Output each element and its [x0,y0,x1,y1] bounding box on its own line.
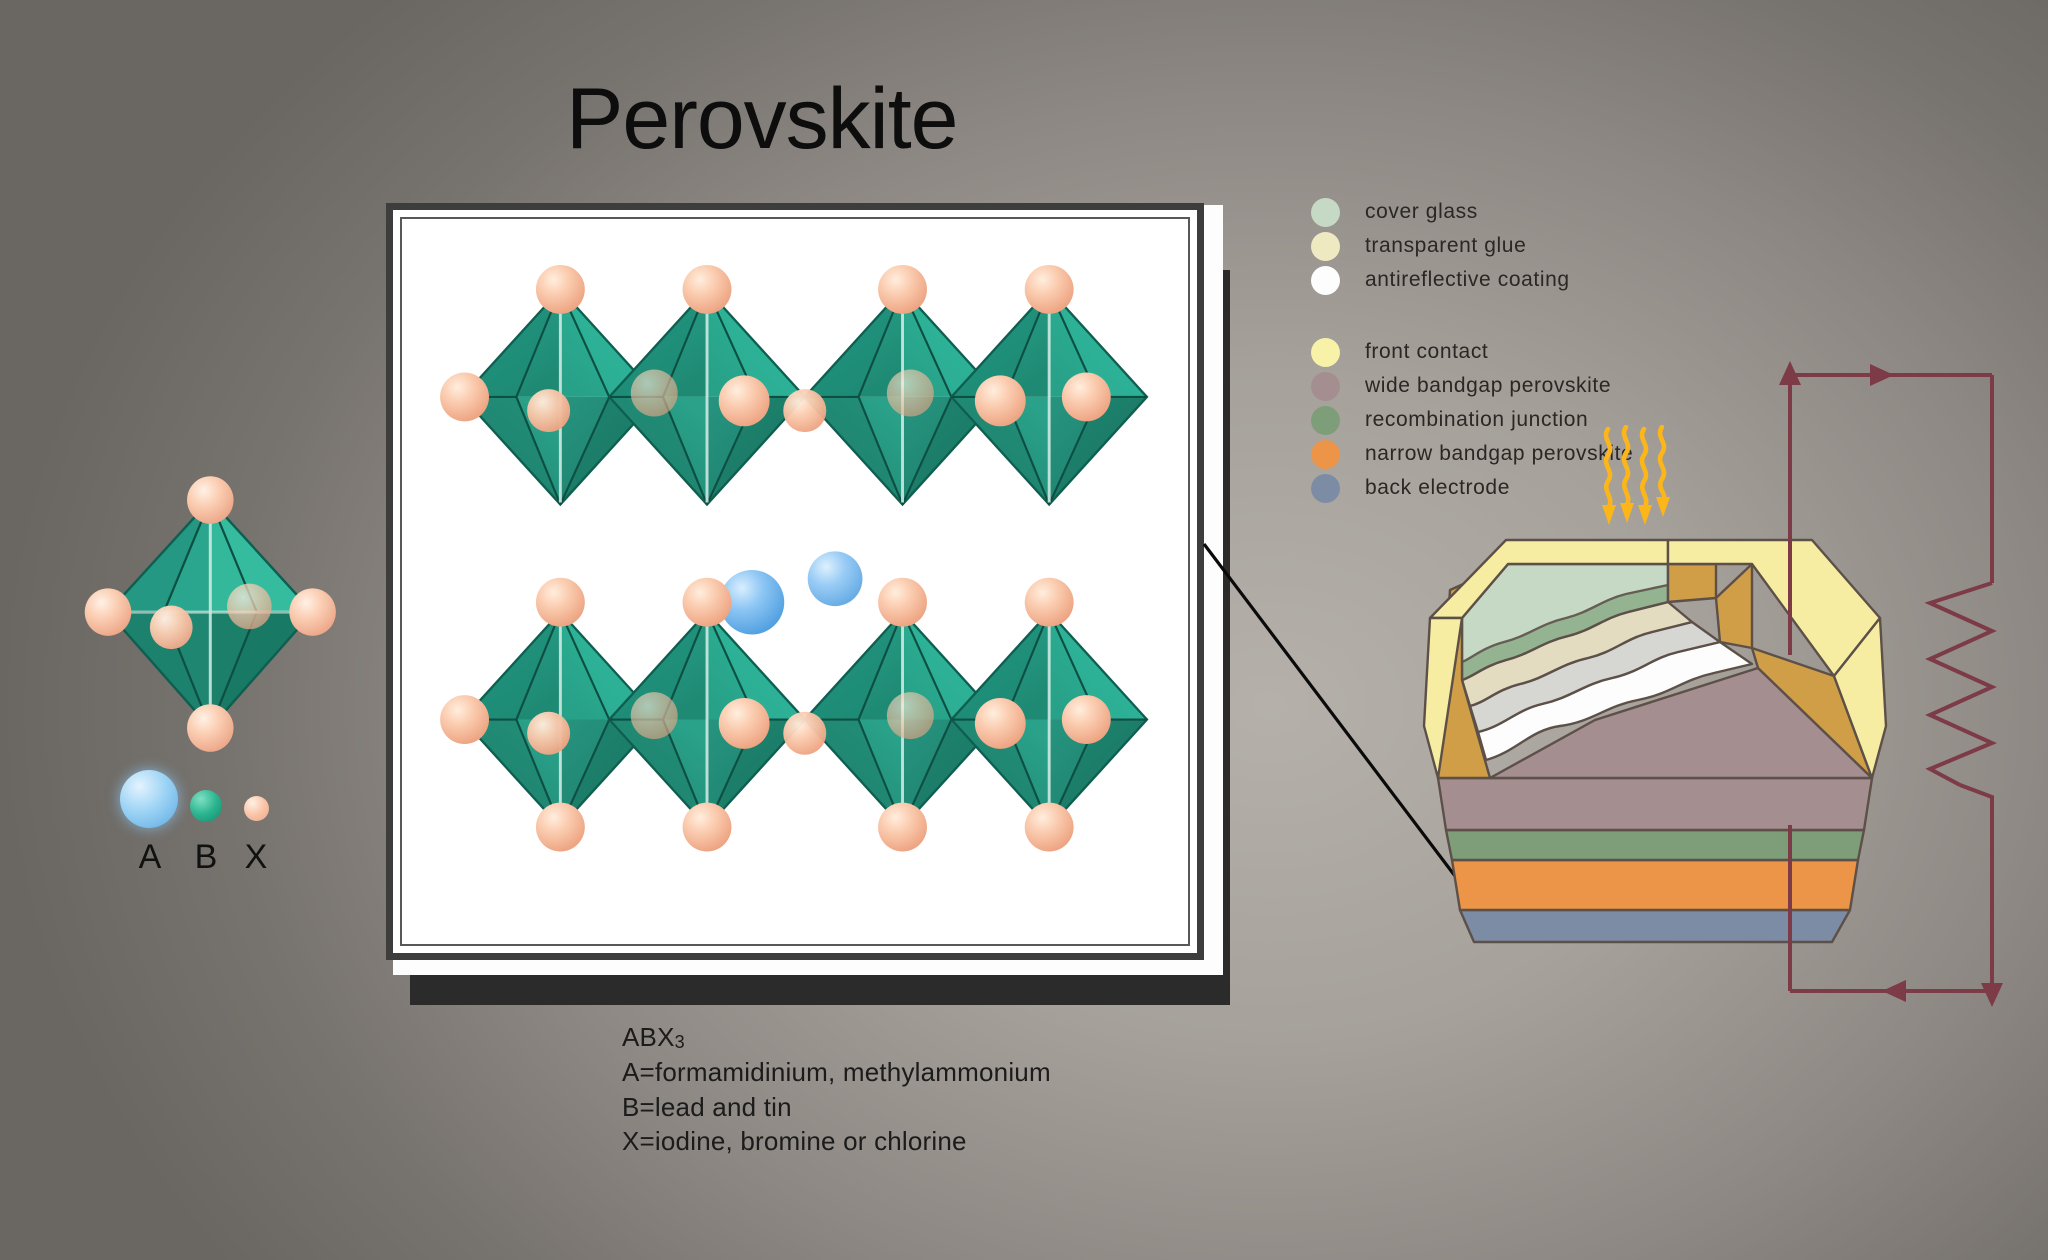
circuit-wire-right-bottom [1960,785,1992,991]
perovskite-lattice-diagram [402,219,1188,945]
legend-item-transparent-glue: transparent glue [1311,229,1731,263]
crystal-structure-panel [386,203,1204,960]
legend-swatch-narrow-bandgap-perovskite [1311,440,1340,469]
a-site-spheres [720,551,863,634]
legend-label-antireflective-coating: antireflective coating [1365,268,1570,292]
abx-label-b: B [188,838,224,877]
external-circuit [1770,355,2020,1025]
caption-block: ABX3 A=formamidinium, methylammonium B=l… [622,1020,1051,1159]
circuit-current-arrows [1779,361,2003,1007]
legend-label-transparent-glue: transparent glue [1365,234,1526,258]
legend-group-encapsulation: cover glass transparent glue antireflect… [1311,195,1731,297]
arrow-right-top [1870,364,1894,386]
legend-swatch-back-electrode [1311,474,1340,503]
legend-label-front-contact: front contact [1365,340,1488,364]
legend-swatch-transparent-glue [1311,232,1340,261]
abx-site-key: A B X [120,770,320,900]
abx-label-a: A [132,838,168,877]
legend-item-cover-glass: cover glass [1311,195,1731,229]
cell-front-contact-inner-right [1668,564,1716,602]
caption-formula-subscript: 3 [675,1032,685,1052]
legend-swatch-antireflective-coating [1311,266,1340,295]
legend-label-narrow-bandgap-perovskite: narrow bandgap perovskite [1365,442,1633,466]
legend-item-front-contact: front contact [1311,335,1731,369]
circuit-resistor [1930,583,1992,785]
legend-label-back-electrode: back electrode [1365,476,1510,500]
legend-swatch-recombination-junction [1311,406,1340,435]
legend-swatch-cover-glass [1311,198,1340,227]
single-octahedron-illustration [72,470,352,760]
legend-swatch-wide-bandgap-perovskite [1311,372,1340,401]
legend-swatch-front-contact [1311,338,1340,367]
arrow-down-right [1981,983,2003,1007]
caption-line-x: X=iodine, bromine or chlorine [622,1124,1051,1159]
legend-label-wide-bandgap-perovskite: wide bandgap perovskite [1365,374,1611,398]
caption-line-a: A=formamidinium, methylammonium [622,1055,1051,1090]
legend-label-recombination-junction: recombination junction [1365,408,1588,432]
legend-label-cover-glass: cover glass [1365,200,1478,224]
panel-inner-border [400,217,1190,946]
caption-formula: ABX3 [622,1020,1051,1055]
abx-label-x: X [238,838,274,877]
caption-line-b: B=lead and tin [622,1090,1051,1125]
a-site-sphere [120,770,178,828]
page-title: Perovskite [566,76,958,162]
arrow-left-bottom [1882,980,1906,1002]
cell-front-contact-inner-right-lower [1716,564,1752,648]
x-site-sphere [244,796,269,821]
sunlight-rays-icon [1600,425,1680,535]
legend-item-antireflective-coating: antireflective coating [1311,263,1731,297]
b-site-sphere [190,790,222,822]
legend-item-wide-bandgap-perovskite: wide bandgap perovskite [1311,369,1731,403]
